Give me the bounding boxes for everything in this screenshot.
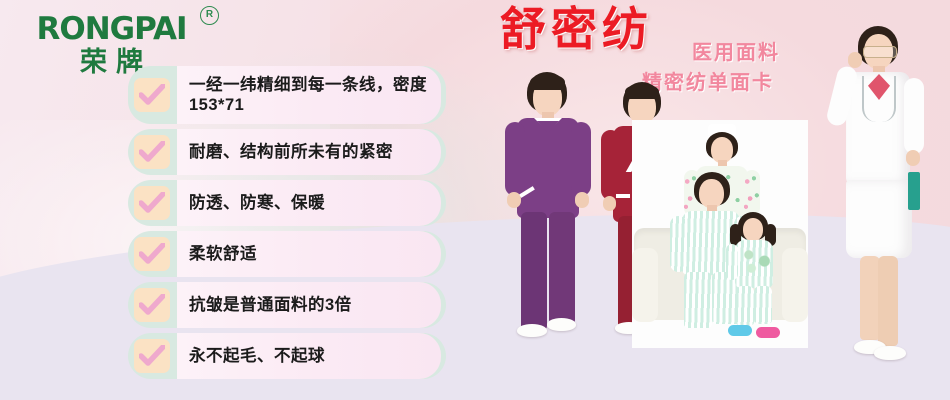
check-icon	[139, 141, 165, 163]
bouquet	[728, 238, 780, 280]
check-icon	[139, 294, 165, 316]
feature-item: 抗皱是普通面料的3倍	[128, 282, 446, 328]
registered-trademark-icon: R	[200, 6, 219, 25]
check-badge	[134, 288, 170, 322]
feature-item: 耐磨、结构前所未有的紧密	[128, 129, 446, 175]
check-badge	[134, 186, 170, 220]
child-sandal-left	[728, 325, 752, 336]
check-icon	[139, 192, 165, 214]
promo-banner: RONGPAI R 荣牌 一经一纬精细到每一条线，密度153*71 耐磨、结构前…	[0, 0, 950, 400]
feature-label: 柔软舒适	[177, 231, 441, 277]
feature-list: 一经一纬精细到每一条线，密度153*71 耐磨、结构前所未有的紧密 防透、防寒、…	[128, 66, 446, 384]
check-icon	[139, 243, 165, 265]
sofa-arm-right	[782, 248, 808, 322]
patient-family-photo	[632, 120, 808, 348]
sofa-arm-left	[632, 248, 658, 322]
check-badge	[134, 237, 170, 271]
feature-label: 耐磨、结构前所未有的紧密	[177, 129, 441, 175]
coat-skirt	[846, 180, 912, 258]
feature-item: 一经一纬精细到每一条线，密度153*71	[128, 66, 446, 124]
feature-label: 防透、防寒、保暖	[177, 180, 441, 226]
check-icon	[139, 345, 165, 367]
stethoscope-icon	[862, 76, 896, 122]
child-sandal-right	[756, 327, 780, 338]
glasses-icon	[863, 46, 897, 58]
clipboard	[908, 172, 920, 210]
feature-label: 永不起毛、不起球	[177, 333, 441, 379]
feature-label: 一经一纬精细到每一条线，密度153*71	[177, 66, 441, 124]
feature-label: 抗皱是普通面料的3倍	[177, 282, 441, 328]
brand-logo-wordmark: RONGPAI	[36, 14, 186, 45]
check-badge	[134, 339, 170, 373]
check-icon	[139, 84, 165, 106]
feature-item: 柔软舒适	[128, 231, 446, 277]
doctor-white-coat	[818, 22, 936, 374]
feature-item: 永不起毛、不起球	[128, 333, 446, 379]
check-badge	[134, 78, 170, 112]
feature-item: 防透、防寒、保暖	[128, 180, 446, 226]
check-badge	[134, 135, 170, 169]
